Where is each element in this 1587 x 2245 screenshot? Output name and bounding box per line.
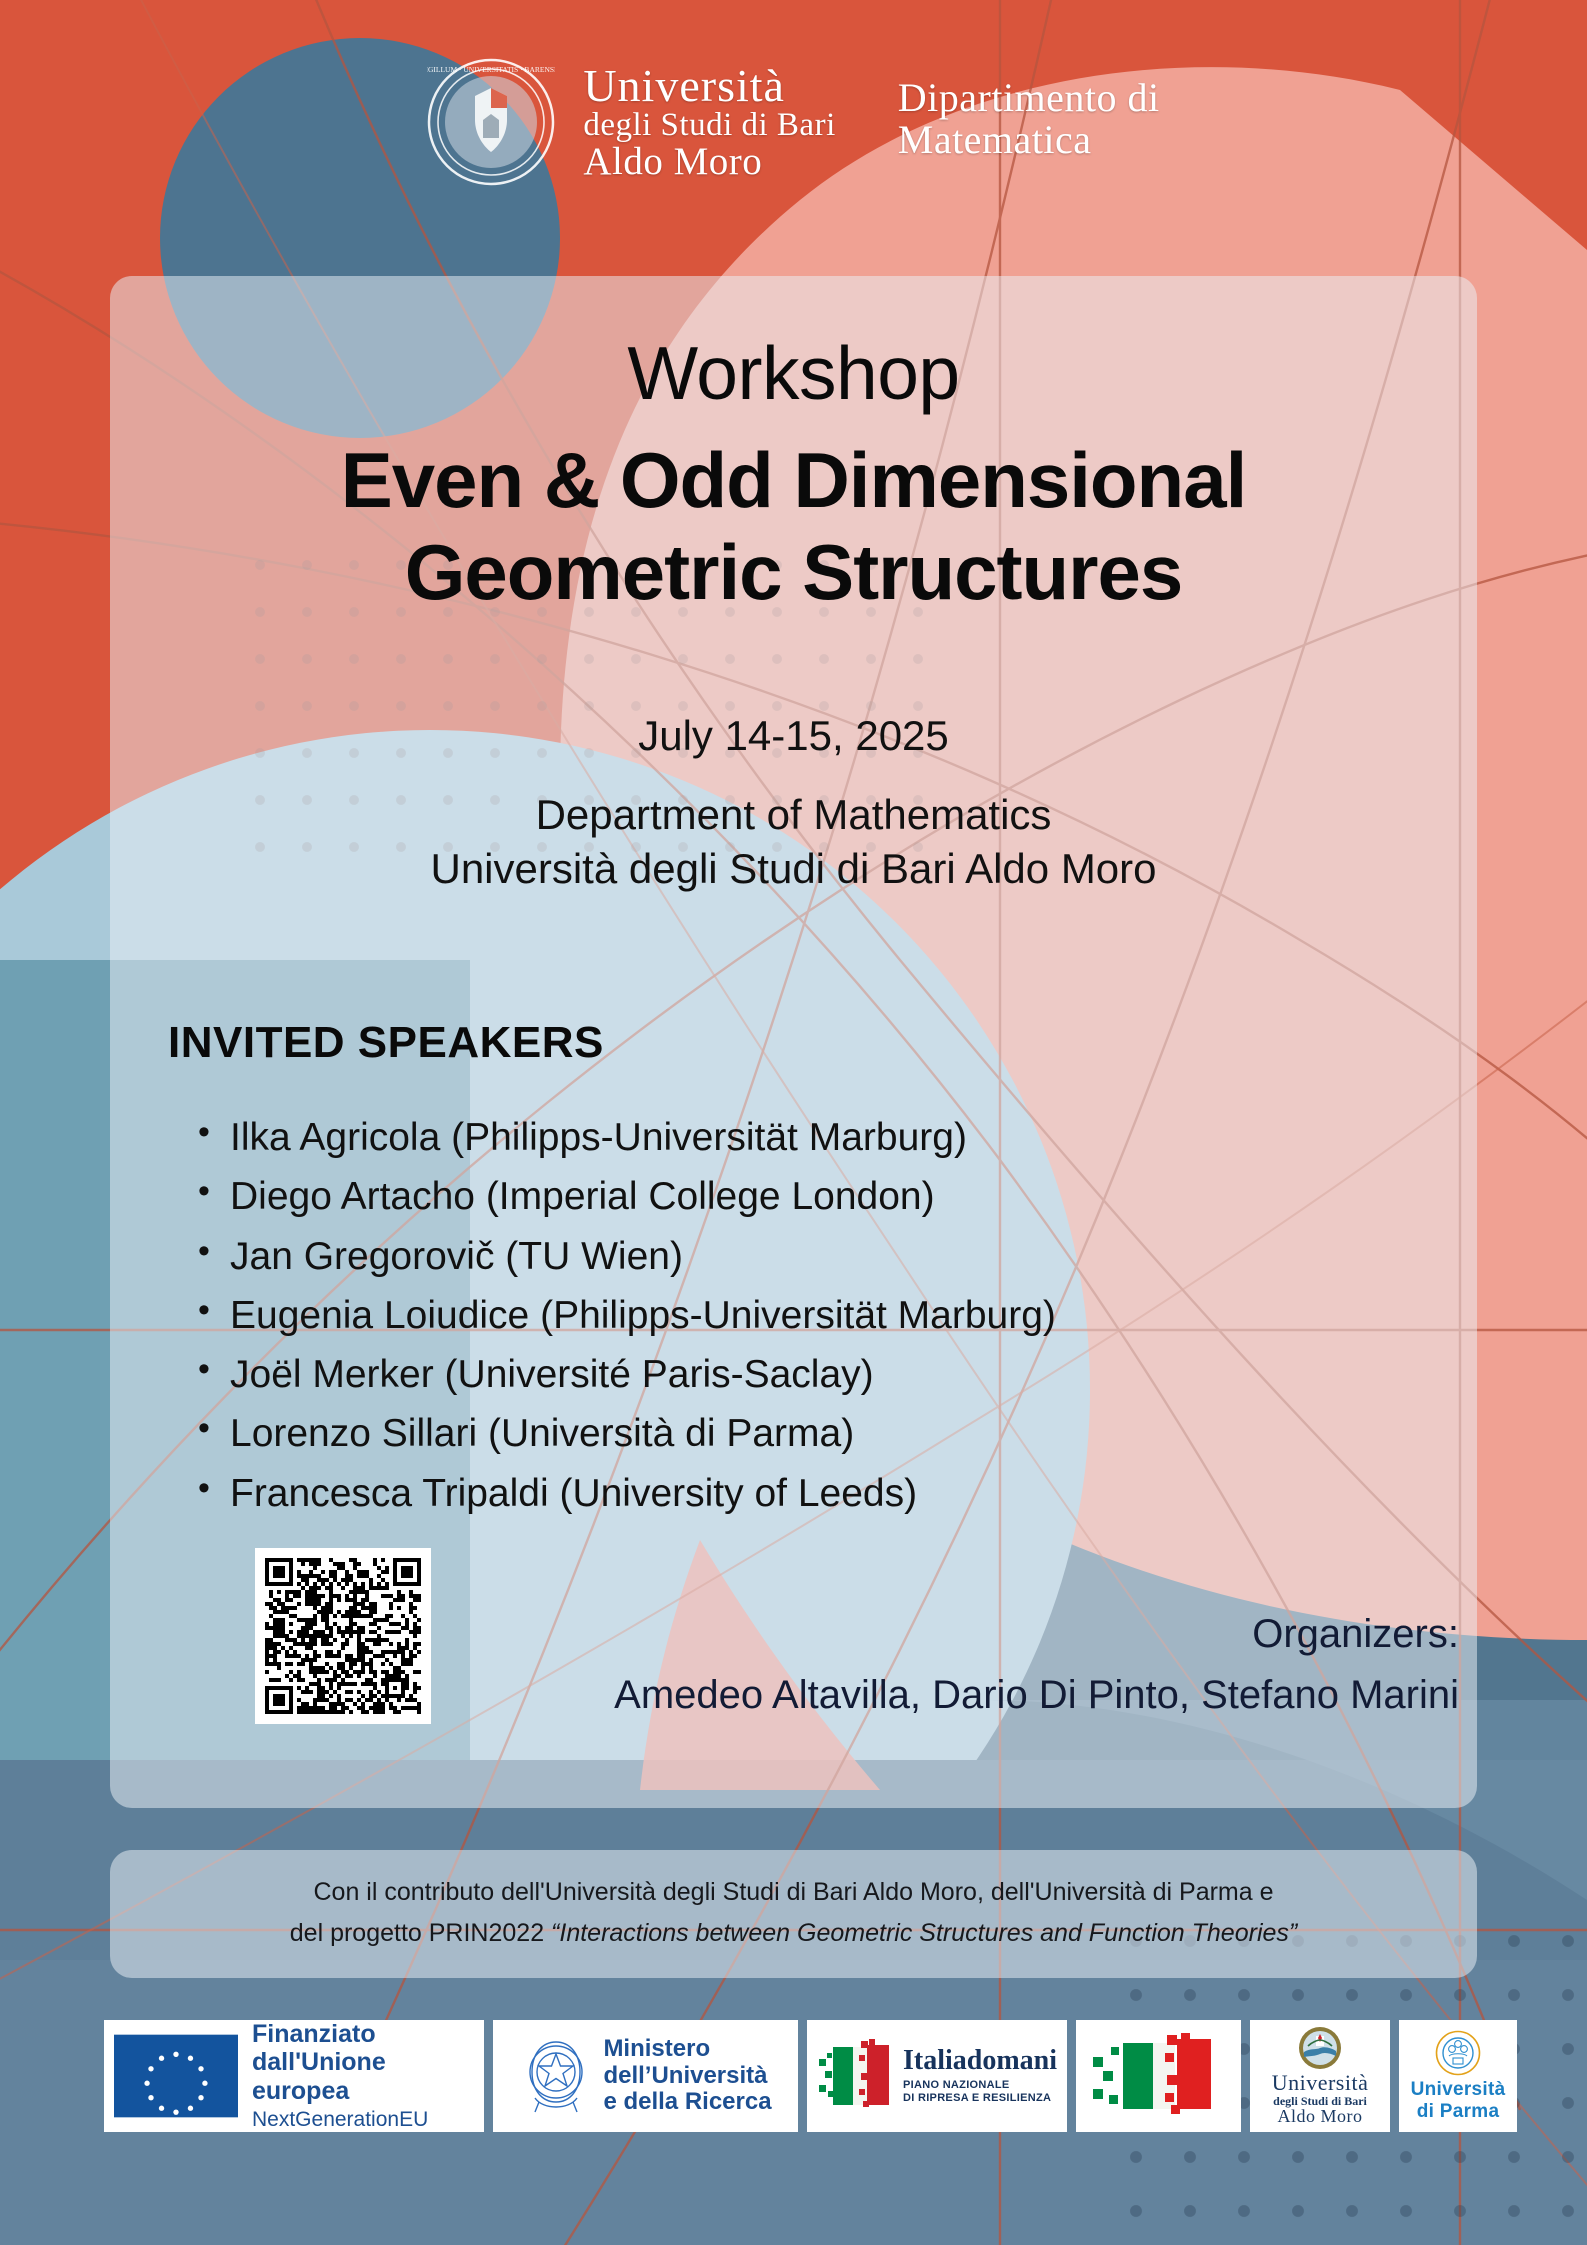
department-wordmark-line-2: Matematica <box>898 119 1160 161</box>
italian-republic-emblem-icon <box>519 2032 593 2120</box>
qr-code-icon[interactable] <box>255 1548 431 1724</box>
eu-funding-line-3: NextGenerationEU <box>252 2108 474 2132</box>
funding-note-line-1: Con il contributo dell'Università degli … <box>110 1872 1477 1913</box>
organizers-block: Organizers: Amedeo Altavilla, Dario Di P… <box>614 1612 1459 1718</box>
event-university: Università degli Studi di Bari Aldo Moro <box>110 842 1477 896</box>
list-item: Eugenia Loiudice (Philipps-Universität M… <box>196 1286 1376 1345</box>
italiadomani-text: Italiadomani PIANO NAZIONALE DI RIPRESA … <box>903 2047 1057 2105</box>
italiadomani-name-part-1: Italia <box>903 2045 967 2076</box>
italiadomani-subtitle: PIANO NAZIONALE DI RIPRESA E RESILIENZA <box>903 2079 1057 2105</box>
ministry-line-2: dell’Università <box>603 2063 771 2089</box>
italian-flag-logo <box>1076 2020 1241 2132</box>
eu-flag-icon <box>114 2034 238 2118</box>
title-line-primary: Even & Odd Dimensional <box>110 434 1477 526</box>
uniba-logo: Università degli Studi di Bari Aldo Moro <box>1250 2020 1390 2132</box>
invited-speakers-list: Ilka Agricola (Philipps-Universität Marb… <box>196 1108 1376 1523</box>
organizers-label: Organizers: <box>614 1612 1459 1657</box>
university-wordmark-line-1: Università <box>583 63 835 109</box>
eu-funding-line-1: Finanziato <box>252 2020 474 2049</box>
funding-note-line-2: del progetto PRIN2022 “Interactions betw… <box>110 1913 1477 1954</box>
ministry-line-3: e della Ricerca <box>603 2089 771 2115</box>
list-item: Ilka Agricola (Philipps-Universität Marb… <box>196 1108 1376 1167</box>
uniba-text: Università degli Studi di Bari Aldo Moro <box>1272 2072 1369 2125</box>
ministry-line-1: Ministero <box>603 2036 771 2062</box>
university-seal-icon: SIGILLUM · UNIVERSITATIS · BARENSIS <box>427 58 555 186</box>
eu-funding-logo: Finanziato dall'Unione europea NextGener… <box>104 2020 484 2132</box>
unipr-text: Università di Parma <box>1411 2079 1506 2122</box>
organizers-names: Amedeo Altavilla, Dario Di Pinto, Stefan… <box>614 1673 1459 1718</box>
svg-text:SIGILLUM · UNIVERSITATIS · BAR: SIGILLUM · UNIVERSITATIS · BARENSIS <box>427 65 555 74</box>
unipr-seal-icon <box>1435 2030 1481 2076</box>
invited-speakers-heading: INVITED SPEAKERS <box>168 1018 604 1068</box>
italian-flag-pixel-icon <box>1089 2033 1229 2119</box>
uniba-line-3: Aldo Moro <box>1272 2107 1369 2125</box>
workshop-label: Workshop <box>110 330 1477 416</box>
italiadomani-name: Italiadomani <box>903 2047 1057 2075</box>
ministry-text: Ministero dell’Università e della Ricerc… <box>603 2036 771 2115</box>
university-wordmark: Università degli Studi di Bari Aldo Moro <box>583 63 835 181</box>
italiadomani-logo: Italiadomani PIANO NAZIONALE DI RIPRESA … <box>807 2020 1067 2132</box>
list-item: Jan Gregorovič (TU Wien) <box>196 1227 1376 1286</box>
event-date: July 14-15, 2025 <box>110 712 1477 760</box>
list-item: Lorenzo Sillari (Università di Parma) <box>196 1404 1376 1463</box>
unipr-line-2: di Parma <box>1411 2101 1506 2122</box>
list-item: Diego Artacho (Imperial College London) <box>196 1167 1376 1226</box>
eu-funding-line-2: dall'Unione europea <box>252 2048 474 2105</box>
conference-poster: SIGILLUM · UNIVERSITATIS · BARENSIS Univ… <box>0 0 1587 2245</box>
unipr-line-1: Università <box>1411 2079 1506 2100</box>
university-wordmark-line-2: degli Studi di Bari <box>583 109 835 142</box>
poster-title-block: Workshop Even & Odd Dimensional Geometri… <box>110 330 1477 618</box>
unipr-logo: Università di Parma <box>1399 2020 1517 2132</box>
poster-header: SIGILLUM · UNIVERSITATIS · BARENSIS Univ… <box>0 58 1587 186</box>
funding-note: Con il contributo dell'Università degli … <box>110 1872 1477 1953</box>
italiadomani-name-part-2: domani <box>967 2045 1057 2076</box>
university-wordmark-line-3: Aldo Moro <box>583 142 835 181</box>
list-item: Joël Merker (Université Paris-Saclay) <box>196 1345 1376 1404</box>
italiadomani-subtitle-line-2: DI RIPRESA E RESILIENZA <box>903 2092 1057 2105</box>
funding-note-prefix: del progetto PRIN2022 <box>290 1919 551 1947</box>
list-item: Francesca Tripaldi (University of Leeds) <box>196 1464 1376 1523</box>
event-department: Department of Mathematics <box>110 788 1477 842</box>
qr-code-canvas[interactable] <box>265 1558 421 1714</box>
title-line-secondary: Geometric Structures <box>110 526 1477 618</box>
event-meta-block: July 14-15, 2025 Department of Mathemati… <box>110 712 1477 896</box>
uniba-seal-icon <box>1298 2026 1342 2070</box>
uniba-line-1: Università <box>1272 2072 1369 2094</box>
eu-funding-text: Finanziato dall'Unione europea NextGener… <box>252 2020 474 2132</box>
ministry-logo: Ministero dell’Università e della Ricerc… <box>493 2020 798 2132</box>
italiadomani-flag-icon <box>817 2039 895 2113</box>
department-wordmark: Dipartimento di Matematica <box>898 77 1160 162</box>
sponsor-logo-strip: Finanziato dall'Unione europea NextGener… <box>104 2020 1490 2132</box>
funding-project-title: “Interactions between Geometric Structur… <box>551 1919 1297 1947</box>
italiadomani-subtitle-line-1: PIANO NAZIONALE <box>903 2079 1057 2092</box>
department-wordmark-line-1: Dipartimento di <box>898 77 1160 119</box>
